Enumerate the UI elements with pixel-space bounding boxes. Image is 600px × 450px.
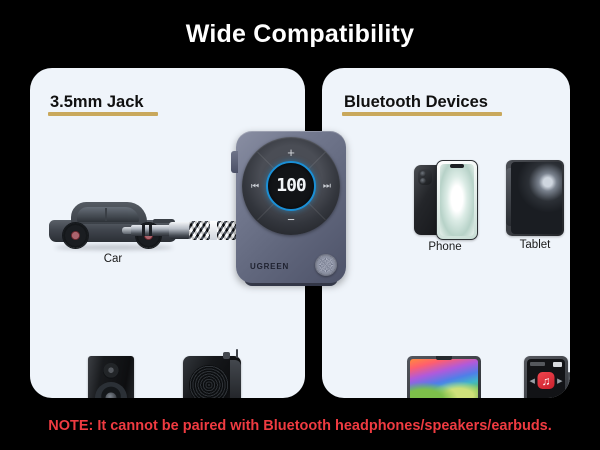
phone-icon: [414, 160, 476, 238]
item-mp3: ♫ ◀ ▶ MP3: [500, 356, 570, 398]
device-side-port: [231, 151, 238, 173]
heading-underline: [342, 112, 502, 116]
mp3-screen: ♫ ◀ ▶: [527, 359, 565, 398]
music-note-icon: ♫: [542, 375, 551, 387]
device-control-pad: + − ⏮ ⏭ 100: [242, 137, 340, 235]
device-display-value: 100: [276, 177, 306, 195]
car-wheel-front: [63, 223, 88, 248]
amplifier-antenna: [236, 349, 239, 358]
mp3-status-bar: [530, 362, 562, 367]
panel-bluetooth-devices: Bluetooth Devices Phone Tablet: [322, 68, 570, 398]
next-track-button[interactable]: ⏭: [323, 182, 331, 191]
phone-front: [436, 160, 478, 240]
mp3-status-time: [530, 362, 545, 366]
mp3-side-button: [568, 372, 571, 388]
speaker-tweeter: [103, 363, 119, 379]
item-computers: Computers: [392, 356, 496, 398]
page-title: Wide Compatibility: [0, 20, 600, 49]
heading-underline: [48, 112, 158, 116]
laptop-screen: [410, 359, 478, 398]
laptop-notch: [436, 356, 452, 360]
previous-track-button[interactable]: ⏮: [251, 182, 259, 191]
item-speaker: Speaker: [66, 356, 156, 398]
tablet-icon: [506, 160, 564, 236]
mp3-battery-icon: [553, 362, 562, 367]
laptop-lid: [407, 356, 481, 398]
mp3-player-icon: ♫ ◀ ▶: [524, 356, 568, 398]
mp3-prev-arrow-icon: ◀: [530, 378, 535, 385]
volume-up-button[interactable]: +: [287, 146, 295, 159]
phone-screen: [440, 164, 474, 236]
jack-ring-2: [149, 225, 152, 236]
jack-ring-1: [142, 225, 145, 236]
note-text: NOTE: It cannot be paired with Bluetooth…: [0, 418, 600, 434]
panel-heading-jack-label: 3.5mm Jack: [50, 93, 144, 111]
speaker-woofer: [95, 382, 127, 398]
phone-notch: [450, 164, 464, 168]
amplifier-icon: [183, 356, 241, 398]
device-display: 100: [266, 161, 316, 211]
item-label-tablet: Tablet: [488, 239, 570, 251]
amplifier-side-panel: [230, 360, 241, 398]
ugreen-bluetooth-receiver: + − ⏮ ⏭ 100 UGREEN: [236, 131, 346, 283]
item-phone: Phone: [400, 160, 490, 253]
speaker-icon: [88, 356, 134, 398]
panel-heading-bluetooth-label: Bluetooth Devices: [344, 93, 488, 111]
laptop-icon: [401, 356, 487, 398]
amplifier-knob: [223, 352, 230, 359]
item-label-car: Car: [38, 253, 188, 265]
device-brand-label: UGREEN: [250, 262, 289, 271]
volume-down-button[interactable]: −: [287, 213, 295, 226]
mp3-music-app-icon: ♫: [538, 372, 555, 389]
cable-band-1: [210, 221, 217, 240]
device-body: + − ⏮ ⏭ 100 UGREEN: [236, 131, 346, 283]
amplifier-grille: [189, 365, 229, 398]
jack-collar: [169, 222, 191, 239]
panel-heading-jack: 3.5mm Jack: [50, 93, 144, 112]
item-amplifier: Amplifier: [164, 356, 260, 398]
item-tablet: Tablet: [488, 160, 570, 251]
rotary-knob-icon[interactable]: [315, 254, 337, 276]
phone-camera-module: [418, 169, 432, 185]
panel-heading-bluetooth: Bluetooth Devices: [344, 93, 488, 112]
mp3-next-arrow-icon: ▶: [557, 378, 562, 385]
item-label-phone: Phone: [400, 241, 490, 253]
tablet-screen: [511, 162, 562, 234]
